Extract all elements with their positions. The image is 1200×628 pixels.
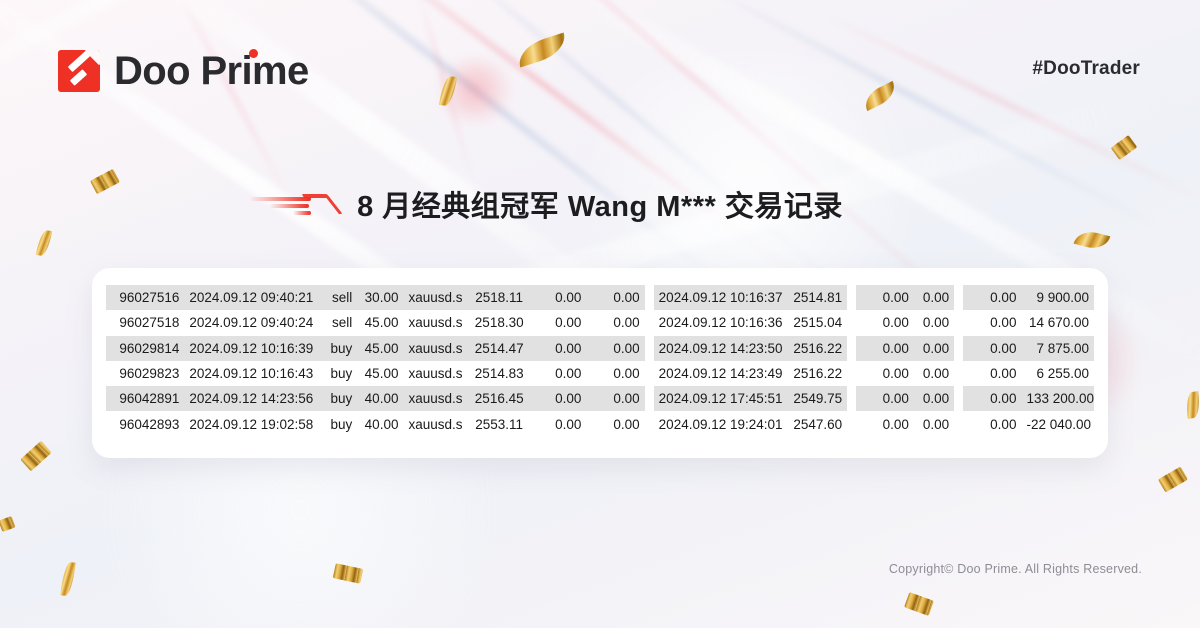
confetti-ribbon [36,229,52,257]
cell-profit: 14 670.00 [1021,310,1094,335]
cell-open-price: 2514.47 [470,336,528,361]
cell-item: xauusd.s [403,336,469,361]
cell-swap: 0.00 [963,411,1021,436]
confetti-strip [904,592,934,616]
confetti-strip [333,563,364,583]
cell-s-l: 0.00 [528,386,586,411]
speed-arrow-left-icon [249,191,335,217]
cell-open-time: 2024.09.12 10:16:43 [184,361,319,386]
brand-logo-label: Doo Prime [114,49,309,93]
column-gap [645,310,654,335]
cell-commission: 0.00 [856,310,914,335]
confetti-ribbon [860,81,899,111]
cell-item: xauusd.s [403,285,469,310]
column-gap [954,386,963,411]
cell-ticket: 96029823 [106,361,184,386]
cell-open-price: 2514.83 [470,361,528,386]
cell-close-time: 2024.09.12 10:16:37 [654,285,789,310]
cell-open-price: 2518.30 [470,310,528,335]
cell-type: buy [319,361,357,386]
cell-s-l: 0.00 [528,336,586,361]
column-gap [645,285,654,310]
promo-banner: Doo Prime #DooTrader 8 月经典组冠军 Wang M*** … [0,0,1200,628]
cell-commission: 0.00 [856,361,914,386]
cell-s-l: 0.00 [528,411,586,436]
trade-history-body: 960275162024.09.12 09:40:21sell30.00xauu… [106,285,1094,437]
cell-close-price: 2547.60 [788,411,846,436]
confetti-strip [1111,135,1138,160]
column-gap [645,386,654,411]
cell-type: sell [319,310,357,335]
cell-taxes: 0.00 [914,361,954,386]
cell-swap: 0.00 [963,386,1021,411]
confetti-ribbon [60,561,75,596]
cell-swap: 0.00 [963,336,1021,361]
cell-ticket: 96027518 [106,310,184,335]
column-gap [645,336,654,361]
table-row[interactable]: 960428912024.09.12 14:23:56buy40.00xauus… [106,386,1094,411]
column-gap [847,336,856,361]
cell-taxes: 0.00 [914,285,954,310]
cell-swap: 0.00 [963,285,1021,310]
column-gap [847,411,856,436]
cell-close-time: 2024.09.12 14:23:50 [654,336,789,361]
cell-type: buy [319,386,357,411]
cell-s-l: 0.00 [528,285,586,310]
cell-t-p: 0.00 [586,386,644,411]
cell-open-time: 2024.09.12 14:23:56 [184,386,319,411]
cell-s-l: 0.00 [528,361,586,386]
cell-profit: 9 900.00 [1021,285,1094,310]
cell-close-price: 2516.22 [788,361,846,386]
logo-accent-dot-icon [249,49,258,58]
cell-type: sell [319,285,357,310]
cell-profit: -22 040.00 [1021,411,1094,436]
column-gap [954,310,963,335]
trade-history-table: 960275162024.09.12 09:40:21sell30.00xauu… [106,285,1094,437]
column-gap [645,361,654,386]
confetti-strip [0,516,16,532]
cell-open-time: 2024.09.12 09:40:24 [184,310,319,335]
cell-item: xauusd.s [403,411,469,436]
cell-open-price: 2518.11 [470,285,528,310]
table-row[interactable]: 960275162024.09.12 09:40:21sell30.00xauu… [106,285,1094,310]
column-gap [954,411,963,436]
confetti-ribbon [439,75,457,107]
cell-open-time: 2024.09.12 09:40:21 [184,285,319,310]
column-gap [954,285,963,310]
cell-type: buy [319,411,357,436]
cell-commission: 0.00 [856,285,914,310]
column-gap [645,411,654,436]
confetti-ribbon [1184,391,1200,419]
cell-ticket: 96027516 [106,285,184,310]
cell-close-time: 2024.09.12 14:23:49 [654,361,789,386]
table-row[interactable]: 960428932024.09.12 19:02:58buy40.00xauus… [106,411,1094,436]
cell-profit: 7 875.00 [1021,336,1094,361]
doo-prime-logo-icon [58,50,100,92]
table-row[interactable]: 960298232024.09.12 10:16:43buy45.00xauus… [106,361,1094,386]
cell-size: 30.00 [357,285,403,310]
cell-s-l: 0.00 [528,310,586,335]
confetti-strip [1158,467,1188,493]
column-gap [847,361,856,386]
confetti-strip [20,441,52,472]
trade-history-card: 960275162024.09.12 09:40:21sell30.00xauu… [92,268,1108,458]
cell-taxes: 0.00 [914,336,954,361]
cell-item: xauusd.s [403,361,469,386]
column-gap [954,361,963,386]
brand-logo: Doo Prime [58,50,309,92]
cell-close-price: 2516.22 [788,336,846,361]
cell-swap: 0.00 [963,310,1021,335]
title-row: 8 月经典组冠军 Wang M*** 交易记录 [0,183,1200,225]
cell-profit: 6 255.00 [1021,361,1094,386]
confetti-ribbon [514,32,570,67]
cell-taxes: 0.00 [914,386,954,411]
cell-close-price: 2514.81 [788,285,846,310]
cell-t-p: 0.00 [586,411,644,436]
column-gap [847,386,856,411]
cell-taxes: 0.00 [914,310,954,335]
cell-commission: 0.00 [856,411,914,436]
cell-size: 45.00 [357,361,403,386]
cell-swap: 0.00 [963,361,1021,386]
cell-ticket: 96042893 [106,411,184,436]
cell-t-p: 0.00 [586,285,644,310]
table-row[interactable]: 960298142024.09.12 10:16:39buy45.00xauus… [106,336,1094,361]
cell-ticket: 96029814 [106,336,184,361]
cell-close-price: 2549.75 [788,386,846,411]
cell-close-time: 2024.09.12 17:45:51 [654,386,789,411]
cell-close-time: 2024.09.12 10:16:36 [654,310,789,335]
cell-size: 45.00 [357,336,403,361]
cell-size: 40.00 [357,386,403,411]
cell-open-price: 2553.11 [470,411,528,436]
column-gap [954,336,963,361]
confetti-ribbon [1074,228,1111,252]
cell-close-price: 2515.04 [788,310,846,335]
cell-commission: 0.00 [856,386,914,411]
brand-logo-text: Doo Prime [114,51,309,91]
cell-size: 40.00 [357,411,403,436]
copyright-text: Copyright© Doo Prime. All Rights Reserve… [889,562,1142,576]
cell-ticket: 96042891 [106,386,184,411]
cell-profit: 133 200.00 [1021,386,1094,411]
cell-t-p: 0.00 [586,310,644,335]
cell-open-time: 2024.09.12 10:16:39 [184,336,319,361]
cell-close-time: 2024.09.12 19:24:01 [654,411,789,436]
cell-item: xauusd.s [403,386,469,411]
cell-t-p: 0.00 [586,336,644,361]
cell-item: xauusd.s [403,310,469,335]
table-row[interactable]: 960275182024.09.12 09:40:24sell45.00xauu… [106,310,1094,335]
cell-size: 45.00 [357,310,403,335]
cell-t-p: 0.00 [586,361,644,386]
cell-type: buy [319,336,357,361]
cell-open-price: 2516.45 [470,386,528,411]
cell-taxes: 0.00 [914,411,954,436]
column-gap [847,310,856,335]
column-gap [847,285,856,310]
hashtag-label: #DooTrader [1032,58,1140,80]
page-title: 8 月经典组冠军 Wang M*** 交易记录 [357,183,843,225]
cell-open-time: 2024.09.12 19:02:58 [184,411,319,436]
cell-commission: 0.00 [856,336,914,361]
speed-arrow-right-icon [865,191,951,217]
